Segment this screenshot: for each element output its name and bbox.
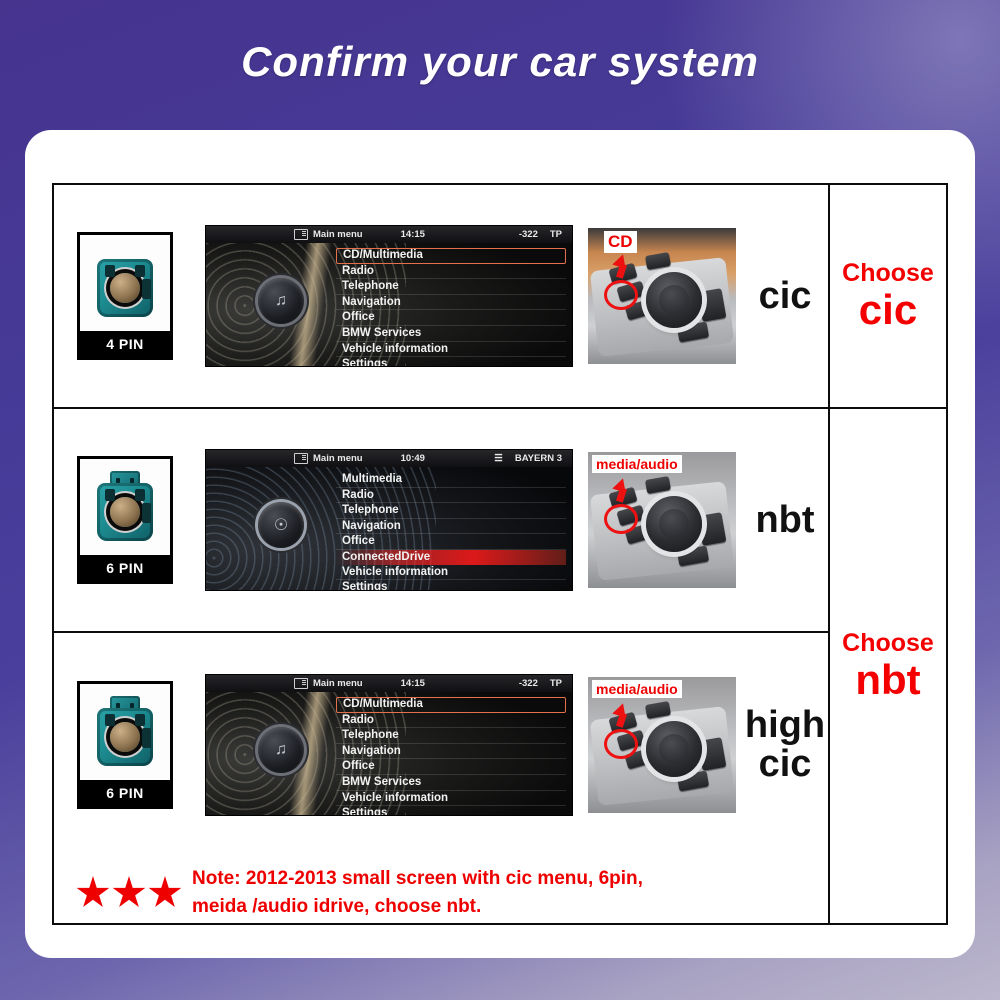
menu-item[interactable]: Navigation	[336, 295, 566, 311]
menu-item[interactable]: Settings	[336, 806, 566, 815]
plug-notch-right-icon	[135, 714, 145, 726]
controller-option-button	[698, 288, 727, 322]
connector-box: 6 PIN	[77, 456, 173, 584]
menu-item[interactable]: Vehicle information	[336, 791, 566, 807]
screen-globe-knob-icon: ☉	[258, 502, 304, 548]
controller-tag: media/audio	[592, 680, 682, 698]
idrive-screen-cell: Main menu 14:15 -322 TP ♫ CD/Multimedia	[196, 675, 582, 815]
menu-item[interactable]: Office	[336, 534, 566, 550]
connector-cell: 4 PIN	[54, 185, 196, 407]
controller-dial	[646, 721, 702, 777]
menu-item[interactable]: BMW Services	[336, 775, 566, 791]
idrive-controller-photo: CD	[588, 228, 736, 364]
system-label: nbt	[755, 501, 814, 540]
system-label-cell: high cic	[742, 706, 828, 784]
choose-cell-cic: Choose cic	[830, 185, 946, 409]
menu-item[interactable]: Navigation	[336, 744, 566, 760]
screen-menu-list: Multimedia Radio Telephone Navigation Of…	[336, 472, 566, 590]
plug-side-icon	[142, 728, 151, 748]
choose-value: cic	[859, 288, 917, 332]
system-label-cell: nbt	[742, 409, 828, 631]
connector-pin-label: 6 PIN	[106, 555, 144, 581]
highlight-circle-icon	[604, 280, 638, 310]
controller-dial	[646, 496, 702, 552]
connector-cell: 6 PIN	[54, 681, 196, 809]
table-row: 6 PIN Main menu 14:15	[54, 633, 828, 923]
screen-status-mode: TP	[550, 678, 562, 689]
signal-icon: ☰	[494, 453, 503, 464]
connector-pin-label: 4 PIN	[106, 331, 144, 357]
menu-item[interactable]: CD/Multimedia	[336, 248, 566, 264]
menu-item[interactable]: Radio	[336, 713, 566, 729]
menu-icon	[294, 453, 308, 464]
connector-box: 4 PIN	[77, 232, 173, 360]
idrive-controller-cell: media/audio	[582, 677, 742, 813]
choose-column: Choose cic Choose nbt	[828, 185, 946, 923]
plug-notch-right-icon	[135, 265, 145, 277]
menu-item[interactable]: Radio	[336, 488, 566, 504]
plug-body-icon	[97, 259, 153, 317]
star-icon	[76, 876, 110, 910]
menu-item[interactable]: Radio	[336, 264, 566, 280]
menu-item[interactable]: Office	[336, 759, 566, 775]
menu-item[interactable]: Office	[336, 310, 566, 326]
plug-body-icon	[97, 708, 153, 766]
connector-photo-6pin	[80, 684, 170, 780]
connector-photo-4pin	[80, 235, 170, 331]
connector-pin-label: 6 PIN	[106, 780, 144, 806]
menu-icon	[294, 229, 308, 240]
screen-status-bar: Main menu 14:15 -322 TP	[206, 226, 572, 243]
star-rating	[76, 876, 182, 910]
note-text: Note: 2012-2013 small screen with cic me…	[192, 865, 643, 922]
plug-notch-right-icon	[135, 489, 145, 501]
plug-notch-left-icon	[105, 265, 115, 277]
screen-status-temp: -322	[519, 678, 538, 689]
menu-icon	[294, 678, 308, 689]
menu-item[interactable]: Vehicle information	[336, 565, 566, 581]
menu-item[interactable]: Settings	[336, 357, 566, 366]
star-icon	[148, 876, 182, 910]
menu-item[interactable]: Telephone	[336, 279, 566, 295]
plug-side-icon	[142, 503, 151, 523]
connector-photo-6pin	[80, 459, 170, 555]
content-card: 4 PIN Main menu 14:15 -322 TP	[25, 130, 975, 958]
screen-status-title: Main menu	[313, 453, 363, 464]
controller-tag: media/audio	[592, 455, 682, 473]
choose-word: Choose	[842, 630, 934, 656]
idrive-screen-cell: Main menu 10:49 ☰ BAYERN 3 ☉ Multimedia …	[196, 409, 582, 631]
idrive-screen: Main menu 14:15 -322 TP ♫ CD/Multimedia …	[206, 226, 572, 366]
plug-notch-left-icon	[105, 489, 115, 501]
screen-status-temp: -322	[519, 229, 538, 240]
menu-item[interactable]: Multimedia	[336, 472, 566, 488]
table-left-columns: 4 PIN Main menu 14:15 -322 TP	[54, 185, 828, 923]
controller-tag: CD	[604, 231, 637, 253]
system-label: cic	[759, 277, 812, 316]
idrive-screen: Main menu 14:15 -322 TP ♫ CD/Multimedia	[206, 675, 572, 815]
screen-status-bar: Main menu 10:49 ☰ BAYERN 3	[206, 450, 572, 467]
menu-item[interactable]: Telephone	[336, 728, 566, 744]
connector-cell: 6 PIN	[54, 409, 196, 631]
note-line-1: Note: 2012-2013 small screen with cic me…	[192, 865, 643, 894]
table-row: 4 PIN Main menu 14:15 -322 TP	[54, 185, 828, 409]
menu-item[interactable]: ConnectedDrive	[336, 550, 566, 565]
screen-status-clock: 10:49	[401, 453, 425, 464]
menu-item[interactable]: Vehicle information	[336, 342, 566, 358]
choose-value: nbt	[855, 658, 920, 702]
controller-option-button	[698, 737, 727, 771]
idrive-controller-cell: CD	[582, 185, 742, 407]
idrive-controller-photo: media/audio	[588, 452, 736, 588]
screen-status-right: ☰ BAYERN 3	[494, 453, 562, 464]
idrive-screen-cell: Main menu 14:15 -322 TP ♫ CD/Multimedia …	[196, 185, 582, 407]
note-area: Note: 2012-2013 small screen with cic me…	[54, 857, 828, 923]
controller-option-button	[698, 512, 727, 546]
screen-status-right: -322 TP	[519, 229, 562, 240]
screen-status-mode: BAYERN 3	[515, 453, 562, 464]
system-label-line2: cic	[759, 745, 812, 784]
screen-menu-list: CD/Multimedia Radio Telephone Navigation…	[336, 697, 566, 815]
screen-menu-list: CD/Multimedia Radio Telephone Navigation…	[336, 248, 566, 366]
idrive-screen: Main menu 10:49 ☰ BAYERN 3 ☉ Multimedia …	[206, 450, 572, 590]
star-icon	[112, 876, 146, 910]
screen-status-title: Main menu	[313, 229, 363, 240]
menu-item[interactable]: Telephone	[336, 503, 566, 519]
system-label-line1: high	[745, 706, 825, 745]
connector-box: 6 PIN	[77, 681, 173, 809]
note-line-2: meida /audio idrive, choose nbt.	[192, 893, 643, 922]
comparison-table: 4 PIN Main menu 14:15 -322 TP	[52, 183, 948, 925]
screen-status-mode: TP	[550, 229, 562, 240]
page-title: Confirm your car system	[0, 38, 1000, 86]
screen-status-title: Main menu	[313, 678, 363, 689]
idrive-controller-photo: media/audio	[588, 677, 736, 813]
plug-notch-left-icon	[105, 714, 115, 726]
screen-status-right: -322 TP	[519, 678, 562, 689]
choose-cell-nbt: Choose nbt	[830, 409, 946, 923]
plug-body-icon	[97, 483, 153, 541]
controller-dial	[646, 272, 702, 328]
screen-status-bar: Main menu 14:15 -322 TP	[206, 675, 572, 692]
screen-media-knob-icon: ♫	[258, 278, 304, 324]
screen-status-clock: 14:15	[401, 678, 425, 689]
menu-item[interactable]: CD/Multimedia	[336, 697, 566, 713]
table-row: 6 PIN Main menu 10:49 ☰ BAYERN 3	[54, 409, 828, 633]
table-row-content: 6 PIN Main menu 14:15	[54, 633, 828, 857]
system-label-cell: cic	[742, 185, 828, 407]
menu-item[interactable]: BMW Services	[336, 326, 566, 342]
choose-word: Choose	[842, 260, 934, 286]
highlight-circle-icon	[604, 504, 638, 534]
plug-side-icon	[142, 279, 151, 299]
menu-item[interactable]: Navigation	[336, 519, 566, 535]
screen-status-clock: 14:15	[401, 229, 425, 240]
idrive-controller-cell: media/audio	[582, 409, 742, 631]
screen-media-knob-icon: ♫	[258, 727, 304, 773]
highlight-circle-icon	[604, 729, 638, 759]
menu-item[interactable]: Settings	[336, 580, 566, 590]
